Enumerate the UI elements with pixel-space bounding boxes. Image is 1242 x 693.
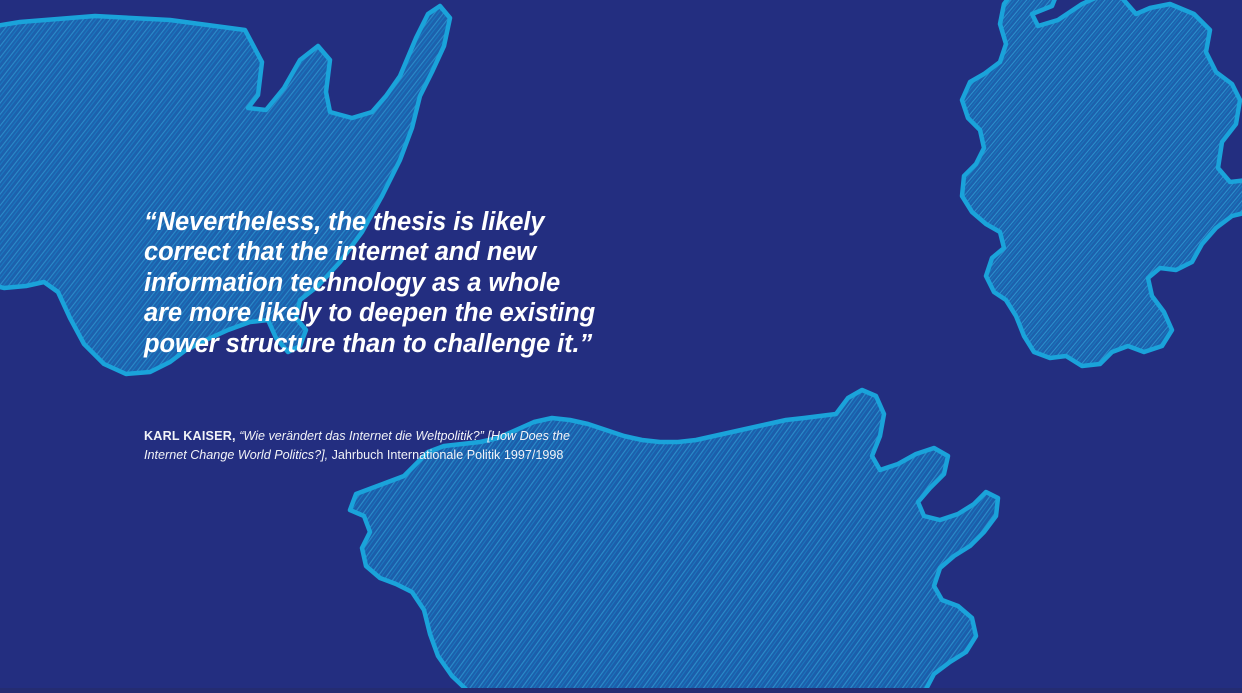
- attribution: KARL KAISER, “Wie verändert das Internet…: [144, 427, 596, 466]
- attribution-author: KARL KAISER,: [144, 429, 236, 443]
- attribution-source: Jahrbuch Internationale Politik 1997/199…: [328, 448, 563, 462]
- quote-block: “Nevertheless, the thesis is likely corr…: [144, 207, 604, 359]
- quote-text: “Nevertheless, the thesis is likely corr…: [144, 207, 604, 359]
- quote-slide: “Nevertheless, the thesis is likely corr…: [0, 0, 1242, 693]
- bottom-bar: [0, 688, 1242, 693]
- map-germany: [962, 0, 1242, 366]
